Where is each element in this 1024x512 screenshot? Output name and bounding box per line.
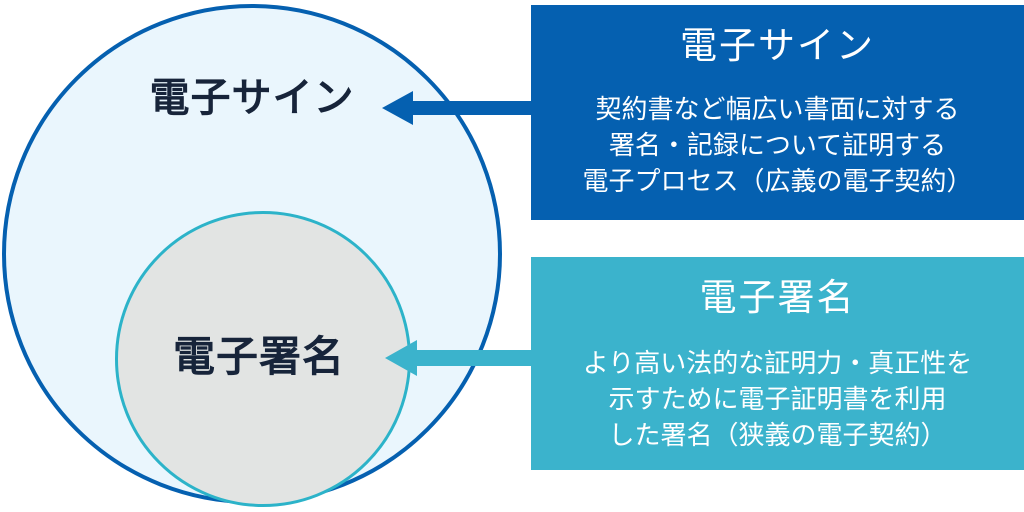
callout-denshi-sign-title: 電子サイン [541, 19, 1014, 73]
callout-body-line: 電子プロセス（広義の電子契約） [541, 163, 1014, 199]
callout-denshi-shomei-body: より高い法的な証明力・真正性を 示すために電子証明書を利用 した署名（狭義の電子… [541, 345, 1014, 453]
callout-denshi-shomei: 電子署名 より高い法的な証明力・真正性を 示すために電子証明書を利用 した署名（… [531, 257, 1024, 470]
callout-body-line: した署名（狭義の電子契約） [541, 417, 1014, 453]
callout-denshi-shomei-title: 電子署名 [541, 271, 1014, 325]
inner-circle-label: 電子署名 [111, 332, 407, 382]
callout-body-line: より高い法的な証明力・真正性を [541, 345, 1014, 381]
outer-circle-label: 電子サイン [0, 74, 504, 122]
callout-body-line: 契約書など幅広い書面に対する [541, 91, 1014, 127]
callout-body-line: 署名・記録について証明する [541, 127, 1014, 163]
callout-denshi-sign-body: 契約書など幅広い書面に対する 署名・記録について証明する 電子プロセス（広義の電… [541, 91, 1014, 199]
diagram-canvas: 電子サイン 電子署名 電子サイン 契約書など幅広い書面に対する 署名・記録につい… [0, 0, 1024, 512]
callout-denshi-sign: 電子サイン 契約書など幅広い書面に対する 署名・記録について証明する 電子プロセ… [531, 5, 1024, 220]
callout-body-line: 示すために電子証明書を利用 [541, 381, 1014, 417]
